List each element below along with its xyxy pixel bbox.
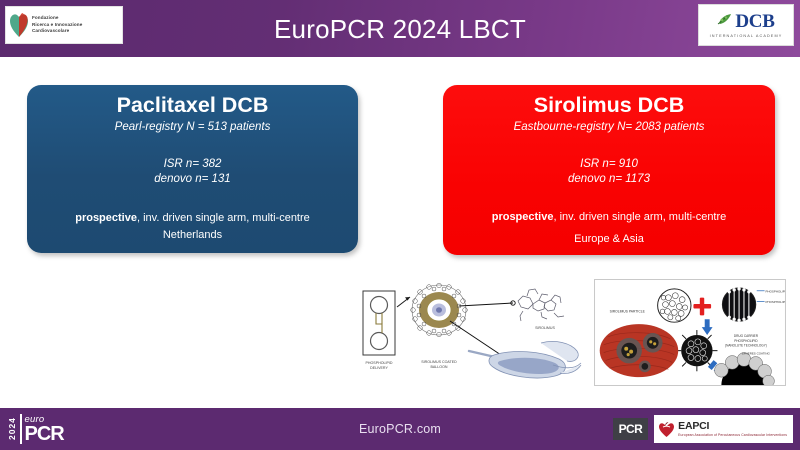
figure-label-balloon: SIROLIMUS COATED: [421, 360, 457, 364]
heart-icon: [9, 12, 29, 38]
svg-text:DELIVERY: DELIVERY: [370, 366, 388, 370]
paclitaxel-card-counts: ISR n= 382 denovo n= 131: [39, 157, 346, 188]
fondazione-line-1: Fondazione: [32, 15, 59, 20]
sirolimus-card-counts: ISR n= 910 denovo n= 1173: [455, 157, 763, 188]
eapci-logo[interactable]: EAPCI European Association of Percutaneo…: [654, 415, 793, 443]
figure-label-coating: SPHERES COATING: [742, 352, 771, 356]
sirolimus-card-design: prospective, inv. driven single arm, mul…: [455, 210, 763, 248]
slide-header: Fondazione Ricerca e Innovazione Cardiov…: [0, 0, 800, 57]
paclitaxel-card-title: Paclitaxel DCB: [39, 94, 346, 117]
paclitaxel-location: Netherlands: [39, 228, 346, 243]
eapci-name: EAPCI: [678, 421, 787, 432]
footer-partner-logos: PCR EAPCI European Association of Percut…: [613, 415, 793, 443]
slide-footer: 2024 euro PCR EuroPCR.com PCR EAPCI: [0, 408, 800, 450]
sirolimus-coated-balloon-diagram: PHOSPHOLIPID DELIVERY: [355, 277, 587, 387]
paclitaxel-isr-count: ISR n= 382: [39, 157, 346, 173]
paclitaxel-card-design: prospective, inv. driven single arm, mul…: [39, 211, 346, 244]
figure-label-phospholipid-tail: PHOSPHOLIPID TAIL: [766, 300, 785, 304]
sirolimus-location: Europe & Asia: [455, 232, 763, 247]
figure-label-phospholipid: PHOSPHOLIPID: [366, 361, 393, 365]
dcb-subtitle: INTERNATIONAL ACADEMY: [710, 34, 783, 38]
europcr-brand-logo[interactable]: 2024 euro PCR: [7, 414, 64, 444]
slide-root: Fondazione Ricerca e Innovazione Cardiov…: [0, 0, 800, 450]
sirolimus-design-rest: , inv. driven single arm, multi-centre: [553, 211, 726, 223]
pcr-badge-logo[interactable]: PCR: [613, 418, 649, 440]
footer-website-text[interactable]: EuroPCR.com: [359, 422, 441, 436]
page-title: EuroPCR 2024 LBCT: [274, 16, 526, 42]
sirolimus-card-subtitle: Eastbourne-registry N= 2083 patients: [455, 120, 763, 135]
svg-text:PHOSPHOLIPID: PHOSPHOLIPID: [734, 339, 758, 343]
figure-label-phospholipid-head: PHOSPHOLIPID HEAD: [766, 289, 785, 293]
nanoluteal-technology-diagram: SIROLIMUS PARTICLE: [594, 279, 786, 386]
paclitaxel-dcb-card: Paclitaxel DCB Pearl-registry N = 513 pa…: [27, 85, 358, 253]
sirolimus-isr-count: ISR n= 910: [455, 157, 763, 173]
paclitaxel-design-rest: , inv. driven single arm, multi-centre: [137, 212, 310, 224]
dcb-acronym: DCB: [735, 12, 774, 31]
sirolimus-design-bold: prospective: [492, 211, 554, 223]
paclitaxel-design-bold: prospective: [75, 212, 137, 224]
heart-icon: [658, 421, 675, 438]
svg-text:BALLOON: BALLOON: [431, 365, 448, 369]
fondazione-logo: Fondazione Ricerca e Innovazione Cardiov…: [5, 6, 123, 44]
logo-divider: [20, 414, 22, 444]
europcr-pcr-word: PCR: [25, 426, 64, 443]
fondazione-line-3: Cardiovascolare: [32, 28, 69, 33]
fondazione-logo-text: Fondazione Ricerca e Innovazione Cardiov…: [32, 15, 82, 36]
sirolimus-denovo-count: denovo n= 1173: [455, 172, 763, 188]
paclitaxel-denovo-count: denovo n= 131: [39, 172, 346, 188]
figure-label-carrier: DRUG CARRIER: [734, 334, 759, 338]
figure-label-particle: SIROLIMUS PARTICLE: [610, 309, 646, 313]
sirolimus-card-title: Sirolimus DCB: [455, 94, 763, 117]
dcb-academy-logo: DCB INTERNATIONAL ACADEMY: [698, 4, 794, 46]
sirolimus-dcb-card: Sirolimus DCB Eastbourne-registry N= 208…: [443, 85, 775, 255]
svg-text:(NANOLUTE TECHNOLOGY): (NANOLUTE TECHNOLOGY): [725, 344, 767, 348]
eapci-tagline: European Association of Percutaneous Car…: [678, 434, 787, 437]
figure-label-drug: SIROLIMUS: [535, 326, 555, 330]
paclitaxel-card-subtitle: Pearl-registry N = 513 patients: [39, 120, 346, 135]
europcr-year: 2024: [7, 414, 17, 444]
fondazione-line-2: Ricerca e Innovazione: [32, 22, 82, 27]
leaf-icon: [717, 12, 733, 31]
